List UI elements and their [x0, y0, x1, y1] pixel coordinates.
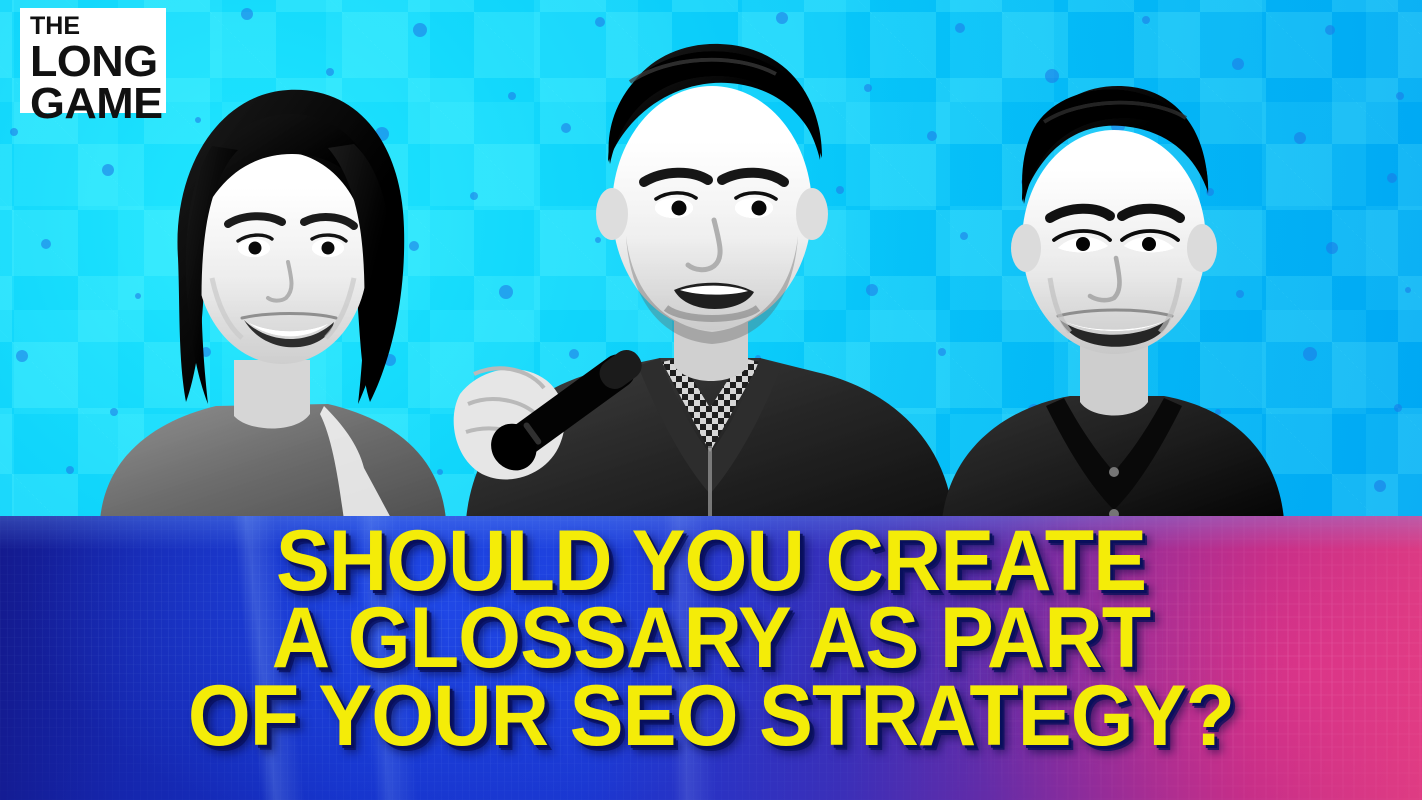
video-thumbnail: THE LONG GAME SHOULD YOU CREATE A GLOSSA…	[0, 0, 1422, 800]
logo-line-the: THE	[30, 14, 158, 39]
logo-line-game: GAME	[30, 82, 161, 126]
guest-portraits	[0, 0, 1422, 518]
banner-top-highlight	[0, 516, 1422, 550]
logo-line-long: LONG	[30, 40, 161, 84]
headline-banner	[0, 516, 1422, 800]
person-center-portrait	[430, 22, 990, 520]
person-left-portrait	[92, 72, 452, 520]
person-right-portrait	[938, 52, 1288, 520]
banner-light-streaks	[0, 516, 1422, 800]
the-long-game-logo[interactable]: THE LONG GAME	[20, 8, 166, 113]
